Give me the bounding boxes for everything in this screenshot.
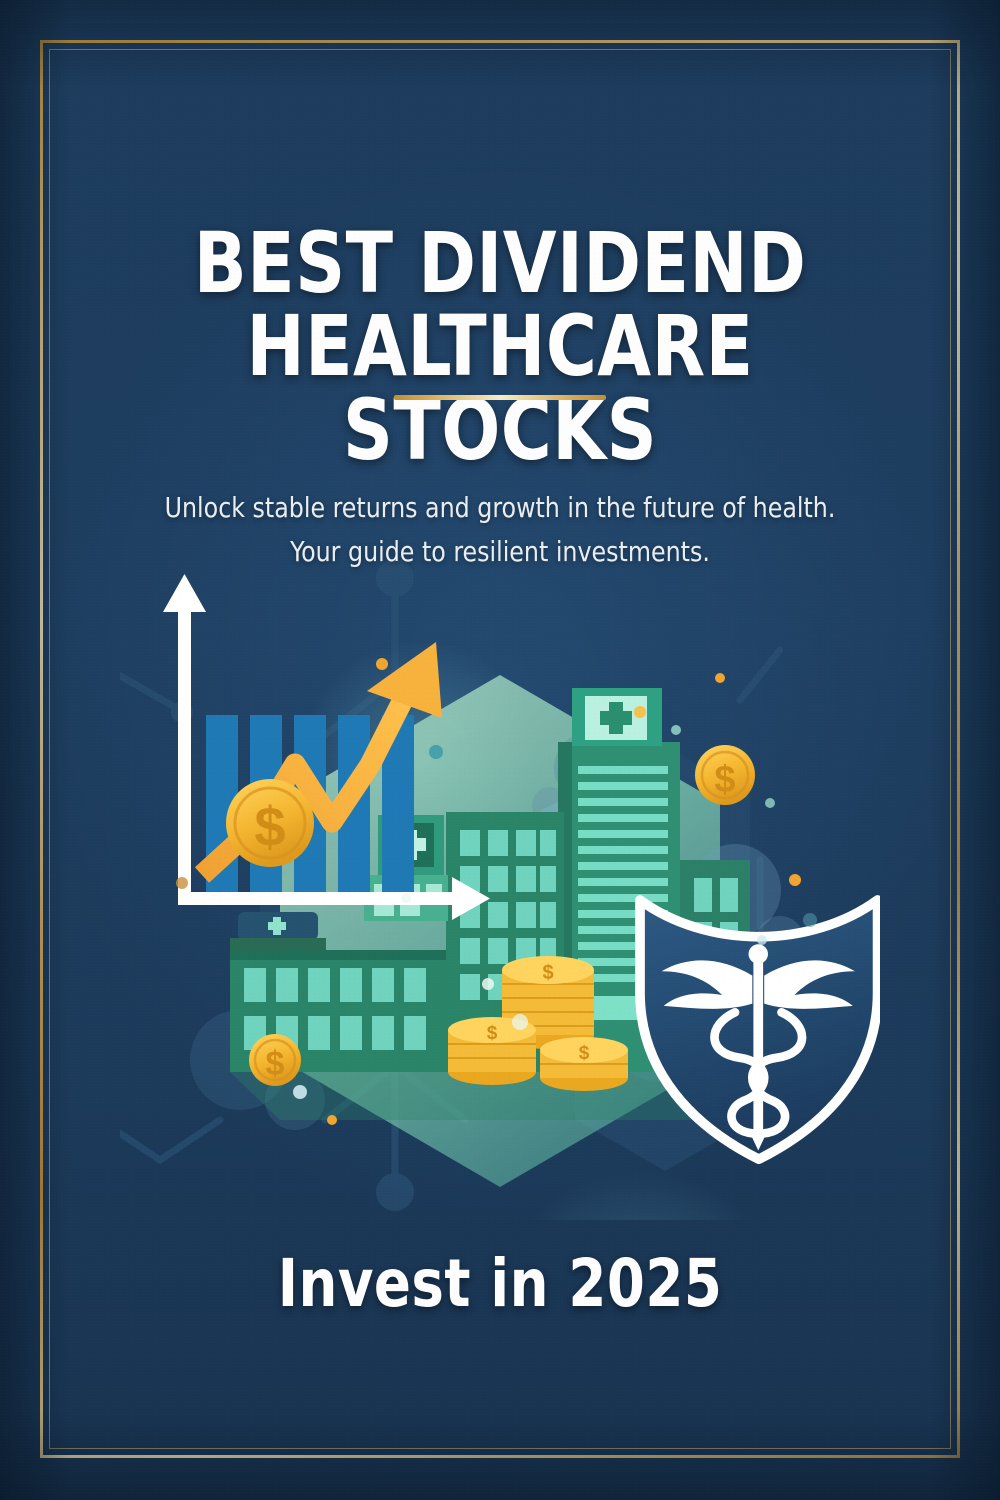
gold-frame-inner [49, 49, 951, 1449]
poster-canvas: $ $ $ [0, 0, 1000, 1500]
